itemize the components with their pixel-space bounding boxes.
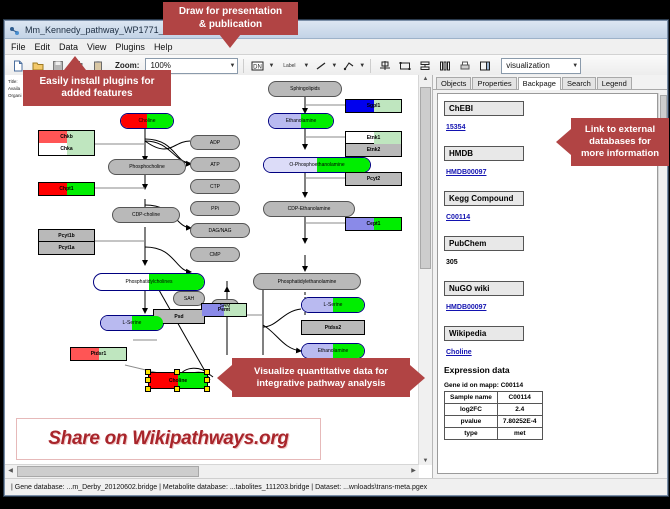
title-bar: Mm_Kennedy_pathway_WP1771_45176.gpml	[5, 21, 667, 39]
db-header-nugo-wiki: NuGO wiki	[444, 281, 524, 296]
db-header-hmdb: HMDB	[444, 146, 524, 161]
stack-icon[interactable]	[416, 57, 433, 74]
zoom-label: Zoom:	[115, 61, 139, 70]
db-value-pubchem: 305	[446, 259, 458, 266]
db-header-wikipedia: Wikipedia	[444, 326, 524, 341]
metabolite-phosphatidylcholines[interactable]: Phosphatidylcholines	[93, 273, 205, 291]
gene-cept1[interactable]: Cept1	[345, 217, 402, 231]
callout-draw: Draw for presentation & publication	[163, 2, 298, 35]
gene-etnk2[interactable]: Etnk2	[345, 143, 402, 157]
print-icon[interactable]	[456, 57, 473, 74]
metabolite-sphingolipids[interactable]: Sphingolipids	[268, 81, 342, 97]
status-text: | Gene database: ...m_Derby_20120602.bri…	[11, 484, 427, 491]
db-link-wikipedia[interactable]: Choline	[446, 349, 472, 356]
tab-backpage[interactable]: Backpage	[518, 77, 561, 90]
expr-val-sample-name: C00114	[497, 392, 542, 404]
selection-handle-w[interactable]	[145, 377, 151, 383]
metabolite-phosphocholine[interactable]: Phosphocholine	[108, 159, 186, 175]
toolbar-divider-1	[243, 59, 244, 73]
callout-draw-line1: Draw for presentation	[179, 6, 282, 19]
metabolite-atp[interactable]: ATP	[190, 157, 240, 172]
metabolite-cdp-ethanolamine[interactable]: CDP-Ethanolamine	[263, 201, 355, 217]
callout-link-arrow	[556, 129, 571, 155]
menu-item-file[interactable]: File	[11, 42, 26, 52]
gene-chpt1[interactable]: Chpt1	[38, 182, 95, 196]
scroll-up-icon[interactable]: ▲	[419, 76, 432, 82]
metabolite-ethanolamine[interactable]: Ethanolamine	[268, 113, 334, 129]
selection-handle-n[interactable]	[174, 369, 180, 375]
canvas-vertical-scrollbar[interactable]: ▲ ▼	[418, 75, 432, 465]
label-tool-icon[interactable]: Label	[277, 57, 301, 74]
screenshot-root: Mm_Kennedy_pathway_WP1771_45176.gpml Fil…	[0, 0, 670, 509]
datanode-dropdown-icon[interactable]: ▼	[268, 63, 274, 69]
metabolite-ctp[interactable]: CTP	[190, 179, 240, 194]
datanode-icon[interactable]: DN	[249, 57, 266, 74]
group-icon[interactable]	[396, 57, 413, 74]
side-panel-tabs: Objects Properties Backpage Search Legen…	[433, 75, 667, 90]
expr-val-type: met	[497, 428, 542, 440]
callout-plugins: Easily install plugins for added feature…	[23, 70, 171, 106]
gene-id-on-mapp: Gene id on mapp: C00114	[444, 382, 654, 389]
metabolite-o-phosphoethanolamine[interactable]: O-Phosphoethanolamine	[263, 157, 371, 173]
chevron-down-icon: ▼	[229, 63, 235, 69]
gene-ptdss2[interactable]: Ptdss2	[301, 320, 365, 335]
visualization-combobox[interactable]: visualization ▼	[501, 58, 581, 74]
label-dropdown-icon[interactable]: ▼	[303, 63, 309, 69]
selection-handle-sw[interactable]	[145, 386, 151, 392]
pathvisio-icon	[9, 24, 20, 35]
canvas-vscroll-thumb[interactable]	[420, 87, 431, 269]
line-tool-icon[interactable]	[312, 57, 329, 74]
selection-handle-ne[interactable]	[204, 369, 210, 375]
expr-key-log2fc: log2FC	[445, 404, 498, 416]
callout-link-line3: more information	[581, 148, 659, 160]
db-header-kegg-compound: Kegg Compound	[444, 191, 524, 206]
gene-pcyt2[interactable]: Pcyt2	[345, 172, 402, 186]
tab-objects[interactable]: Objects	[436, 77, 471, 89]
menu-item-edit[interactable]: Edit	[35, 42, 51, 52]
side-panel-icon[interactable]	[476, 57, 493, 74]
tab-legend[interactable]: Legend	[597, 77, 632, 89]
align-icon[interactable]	[376, 57, 393, 74]
db-link-hmdb[interactable]: HMDB00097	[446, 169, 486, 176]
expression-data-heading: Expression data	[444, 365, 654, 375]
scroll-left-icon[interactable]: ◀	[6, 467, 15, 474]
selection-handle-s[interactable]	[174, 386, 180, 392]
callout-visualize: Visualize quantitative data for integrat…	[232, 358, 410, 397]
callout-visualize-arrow-right	[410, 365, 425, 391]
canvas-hscroll-thumb[interactable]	[17, 466, 199, 477]
label-tool-text: Label	[283, 63, 295, 69]
table-row: pvalue 7.80252E-4	[445, 416, 543, 428]
db-header-chebi: ChEBI	[444, 101, 524, 116]
metabolite-ethanolamine-low[interactable]: Ethanolamine	[301, 343, 365, 359]
metabolite-cdp-choline[interactable]: CDP-choline	[112, 207, 180, 223]
callout-link-line1: Link to external	[585, 124, 655, 136]
callout-share: Share on Wikipathways.org	[16, 418, 321, 460]
menu-item-view[interactable]: View	[87, 42, 106, 52]
expr-key-sample-name: Sample name	[445, 392, 498, 404]
callout-plugins-line2: added features	[61, 88, 132, 101]
table-row: log2FC 2.4	[445, 404, 543, 416]
gene-chkb[interactable]: Chkb	[38, 130, 95, 144]
expression-table: Sample name C00114 log2FC 2.4 pvalue 7.8…	[444, 391, 543, 440]
callout-visualize-arrow-left	[217, 365, 232, 391]
metabolite-l-serine-left[interactable]: L-Serine	[100, 315, 164, 331]
visualization-value: visualization	[506, 61, 550, 70]
svg-text:DN: DN	[254, 64, 263, 70]
status-bar: | Gene database: ...m_Derby_20120602.bri…	[5, 478, 667, 495]
expr-key-type: type	[445, 428, 498, 440]
line-dropdown-icon[interactable]: ▼	[331, 63, 337, 69]
gene-chka[interactable]: Chka	[38, 142, 95, 156]
callout-plugins-line1: Easily install plugins for	[39, 76, 154, 89]
expr-val-pvalue: 7.80252E-4	[497, 416, 542, 428]
interaction-dropdown-icon[interactable]: ▼	[359, 63, 365, 69]
selection-handle-nw[interactable]	[145, 369, 151, 375]
metabolite-l-serine-right[interactable]: L-Serine	[301, 297, 365, 313]
metabolite-cmp[interactable]: CMP	[190, 247, 240, 262]
zoom-value: 100%	[150, 61, 170, 70]
gene-sgpl1[interactable]: Sgpl1	[345, 99, 402, 113]
interaction-tool-icon[interactable]	[340, 57, 357, 74]
distribute-icon[interactable]	[436, 57, 453, 74]
scroll-right-icon[interactable]: ▶	[409, 467, 418, 474]
db-link-kegg-compound[interactable]: C00114	[446, 214, 470, 221]
gene-pcyt1a[interactable]: Pcyt1a	[38, 241, 95, 255]
metabolite-phosphatidylethanolamine[interactable]: Phosphatidylethanolamine	[253, 273, 361, 290]
metabolite-dag-nag[interactable]: DAG/NAG	[190, 223, 250, 238]
selection-handle-e[interactable]	[204, 377, 210, 383]
selection-handle-se[interactable]	[204, 386, 210, 392]
menu-item-data[interactable]: Data	[59, 42, 78, 52]
metabolite-adp[interactable]: ADP	[190, 135, 240, 150]
callout-visualize-line1: Visualize quantitative data for	[254, 366, 388, 378]
scroll-down-icon[interactable]: ▼	[419, 458, 432, 464]
table-row: type met	[445, 428, 543, 440]
metabolite-ppi[interactable]: PPi	[190, 201, 240, 216]
callout-link-line2: databases for	[589, 136, 651, 148]
callout-draw-line2: & publication	[199, 19, 262, 32]
callout-share-text: Share on Wikipathways.org	[48, 428, 288, 450]
callout-plugins-arrow	[64, 56, 86, 70]
callout-visualize-line2: integrative pathway analysis	[257, 378, 386, 390]
callout-link: Link to external databases for more info…	[571, 118, 669, 166]
gene-ptdsr1[interactable]: Ptdsr1	[70, 347, 127, 361]
toolbar-divider-2	[370, 59, 371, 73]
chevron-down-icon: ▼	[572, 63, 578, 69]
table-row: Sample name C00114	[445, 392, 543, 404]
tab-search[interactable]: Search	[562, 77, 596, 89]
db-link-chebi[interactable]: 15354	[446, 124, 465, 131]
menu-item-help[interactable]: Help	[154, 42, 173, 52]
pathway-canvas[interactable]: Title: Availa Organi	[5, 75, 417, 460]
db-header-pubchem: PubChem	[444, 236, 524, 251]
db-link-nugo-wiki[interactable]: HMDB00097	[446, 304, 486, 311]
menu-bar: File Edit Data View Plugins Help	[5, 39, 667, 55]
metabolite-choline-top[interactable]: Choline	[120, 113, 174, 129]
expr-key-pvalue: pvalue	[445, 416, 498, 428]
canvas-horizontal-scrollbar[interactable]: ◀ ▶	[5, 464, 419, 478]
expr-val-log2fc: 2.4	[497, 404, 542, 416]
tab-properties[interactable]: Properties	[472, 77, 516, 89]
callout-draw-arrow	[219, 34, 241, 48]
menu-item-plugins[interactable]: Plugins	[115, 42, 145, 52]
